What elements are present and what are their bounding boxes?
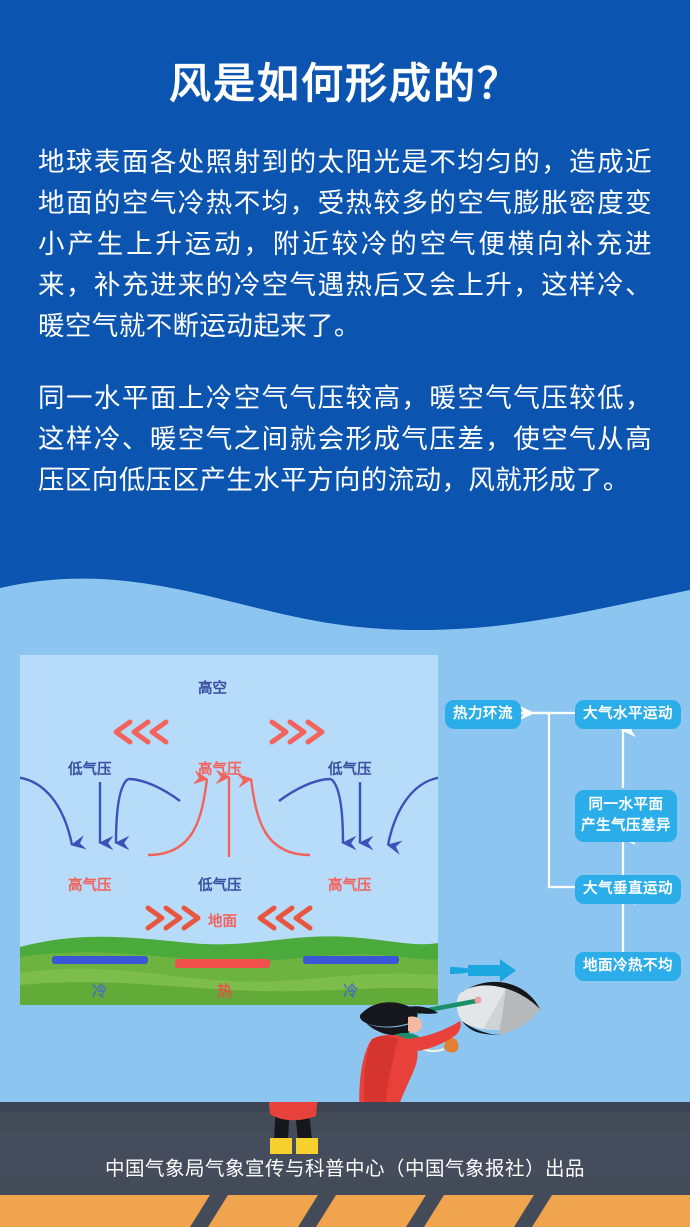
flow-node-pressure-difference-line1: 同一水平面 [581,795,671,816]
diagram-label-lower-high-pressure-left: 高气压 [68,874,112,895]
diagram-label-ground: 地面 [208,910,237,931]
windy-day-illustration [350,955,650,1115]
diagram-label-lower-high-pressure-right: 高气压 [328,874,372,895]
diagram-label-upper-low-pressure-right: 低气压 [328,758,372,779]
flow-node-horizontal-motion[interactable]: 大气水平运动 [575,700,681,729]
diagram-surface-label-hot-center: 热 [217,980,232,1001]
paragraph-1: 地球表面各处照射到的太阳光是不均匀的，造成近地面的空气冷热不均，受热较多的空气膨… [38,142,652,347]
diagram-label-upper-low-pressure-left: 低气压 [68,758,112,779]
flow-node-vertical-motion[interactable]: 大气垂直运动 [575,875,681,904]
poster-root: 风是如何形成的？ 地球表面各处照射到的太阳光是不均匀的，造成近地面的空气冷热不均… [0,0,690,1227]
flow-node-thermal-circulation[interactable]: 热力环流 [445,700,521,729]
flow-node-pressure-difference-line2: 产生气压差异 [581,816,671,837]
thermal-circulation-diagram: 高空 低气压 高气压 低气压 高气压 低气压 高气压 地面 冷 热 冷 [20,655,438,1005]
page-title: 风是如何形成的？ [0,58,690,111]
diagram-label-high-altitude: 高空 [198,677,227,698]
footer-credit: 中国气象局气象宣传与科普中心（中国气象报社）出品 [0,1152,690,1181]
flow-node-pressure-difference[interactable]: 同一水平面 产生气压差异 [575,790,677,842]
diagram-label-upper-high-pressure-center: 高气压 [198,758,242,779]
diagram-surface-label-cold-left: 冷 [92,980,107,1001]
paragraph-2: 同一水平面上冷空气气压较高，暖空气气压较低，这样冷、暖空气之间就会形成气压差，使… [38,378,652,501]
girl-figure [359,1002,461,1115]
diagram-graphics [20,655,438,1005]
wind-arrow-icon [450,959,516,982]
diagram-label-lower-low-pressure-center: 低气压 [198,874,242,895]
road-footer: 中国气象局气象宣传与科普中心（中国气象报社）出品 [0,1102,690,1227]
